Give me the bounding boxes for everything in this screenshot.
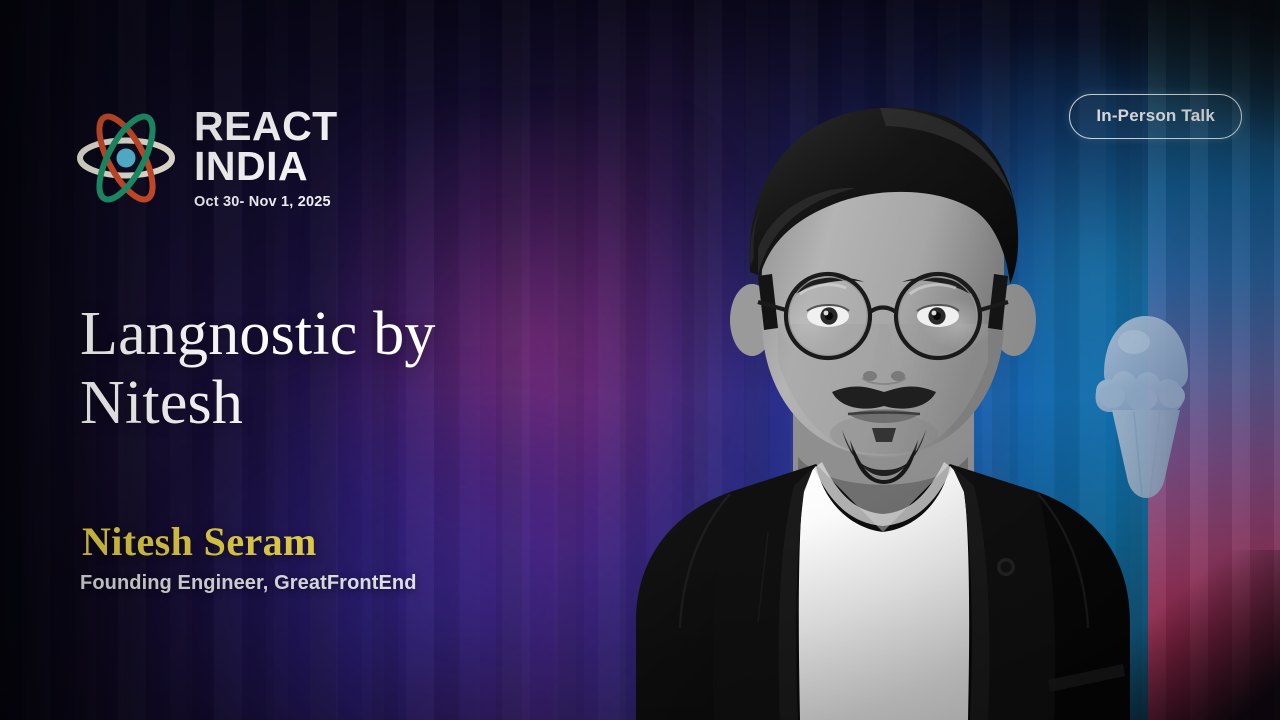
talk-card: REACT INDIA Oct 30- Nov 1, 2025 In-Perso… xyxy=(0,0,1280,720)
logo-date: Oct 30- Nov 1, 2025 xyxy=(194,195,338,210)
logo-line-india: INDIA xyxy=(194,146,338,186)
react-india-logo: REACT INDIA Oct 30- Nov 1, 2025 xyxy=(72,104,338,212)
react-atom-icon xyxy=(72,104,180,212)
logo-line-react: REACT xyxy=(194,106,338,146)
status-badge: In-Person Talk xyxy=(1069,94,1242,139)
speaker-portrait xyxy=(618,62,1148,720)
speaker-role: Founding Engineer, GreatFrontEnd xyxy=(80,572,417,595)
talk-title: Langnostic by Nitesh xyxy=(80,300,550,439)
speaker-name: Nitesh Seram xyxy=(82,518,317,565)
